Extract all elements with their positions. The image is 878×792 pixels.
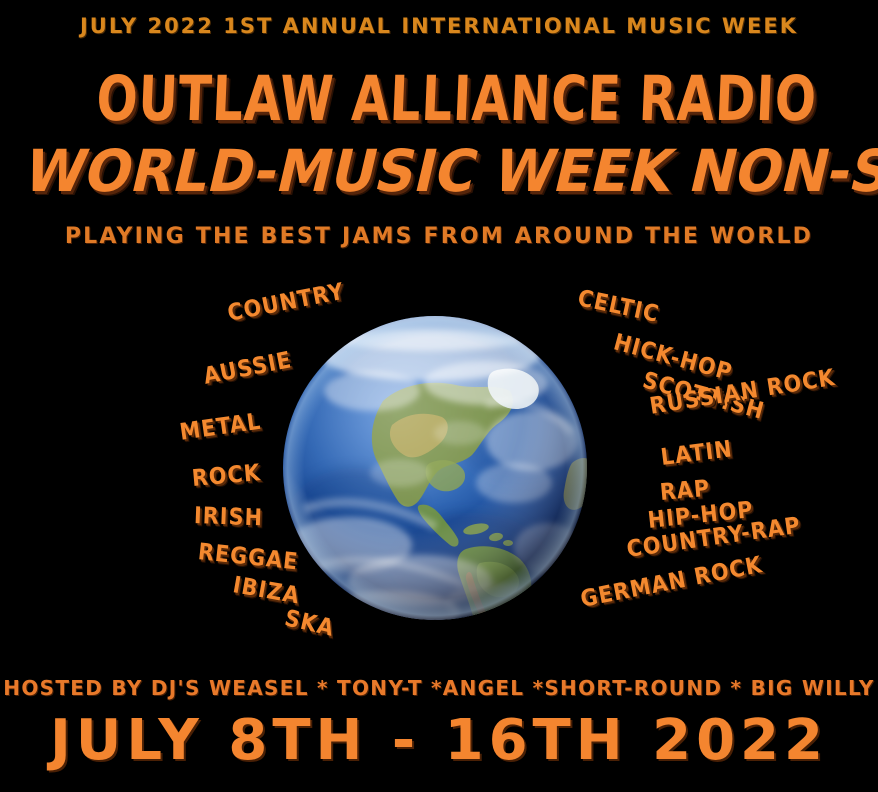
genre-label: IRISH [194, 505, 264, 530]
poster-title-primary: OUTLAW ALLIANCE RADIO [95, 68, 782, 130]
event-poster: JULY 2022 1ST ANNUAL INTERNATIONAL MUSIC… [0, 0, 878, 792]
genre-label: LATIN [660, 438, 734, 470]
genre-label: METAL [178, 411, 262, 445]
poster-tagline: PLAYING THE BEST JAMS FROM AROUND THE WO… [0, 224, 878, 249]
earth-globe-icon [280, 313, 590, 623]
genre-label: RAP [659, 478, 711, 505]
poster-kicker: JULY 2022 1ST ANNUAL INTERNATIONAL MUSIC… [0, 14, 878, 38]
poster-title-secondary: WORLD-MUSIC WEEK NON-STOP [20, 142, 859, 200]
event-dates: JULY 8TH - 16TH 2022 [0, 708, 878, 773]
hosted-by-line: HOSTED BY DJ'S WEASEL * TONY-T *ANGEL *S… [0, 676, 878, 700]
genre-label: ROCK [191, 462, 262, 491]
genre-label: GERMAN ROCK [579, 554, 765, 612]
